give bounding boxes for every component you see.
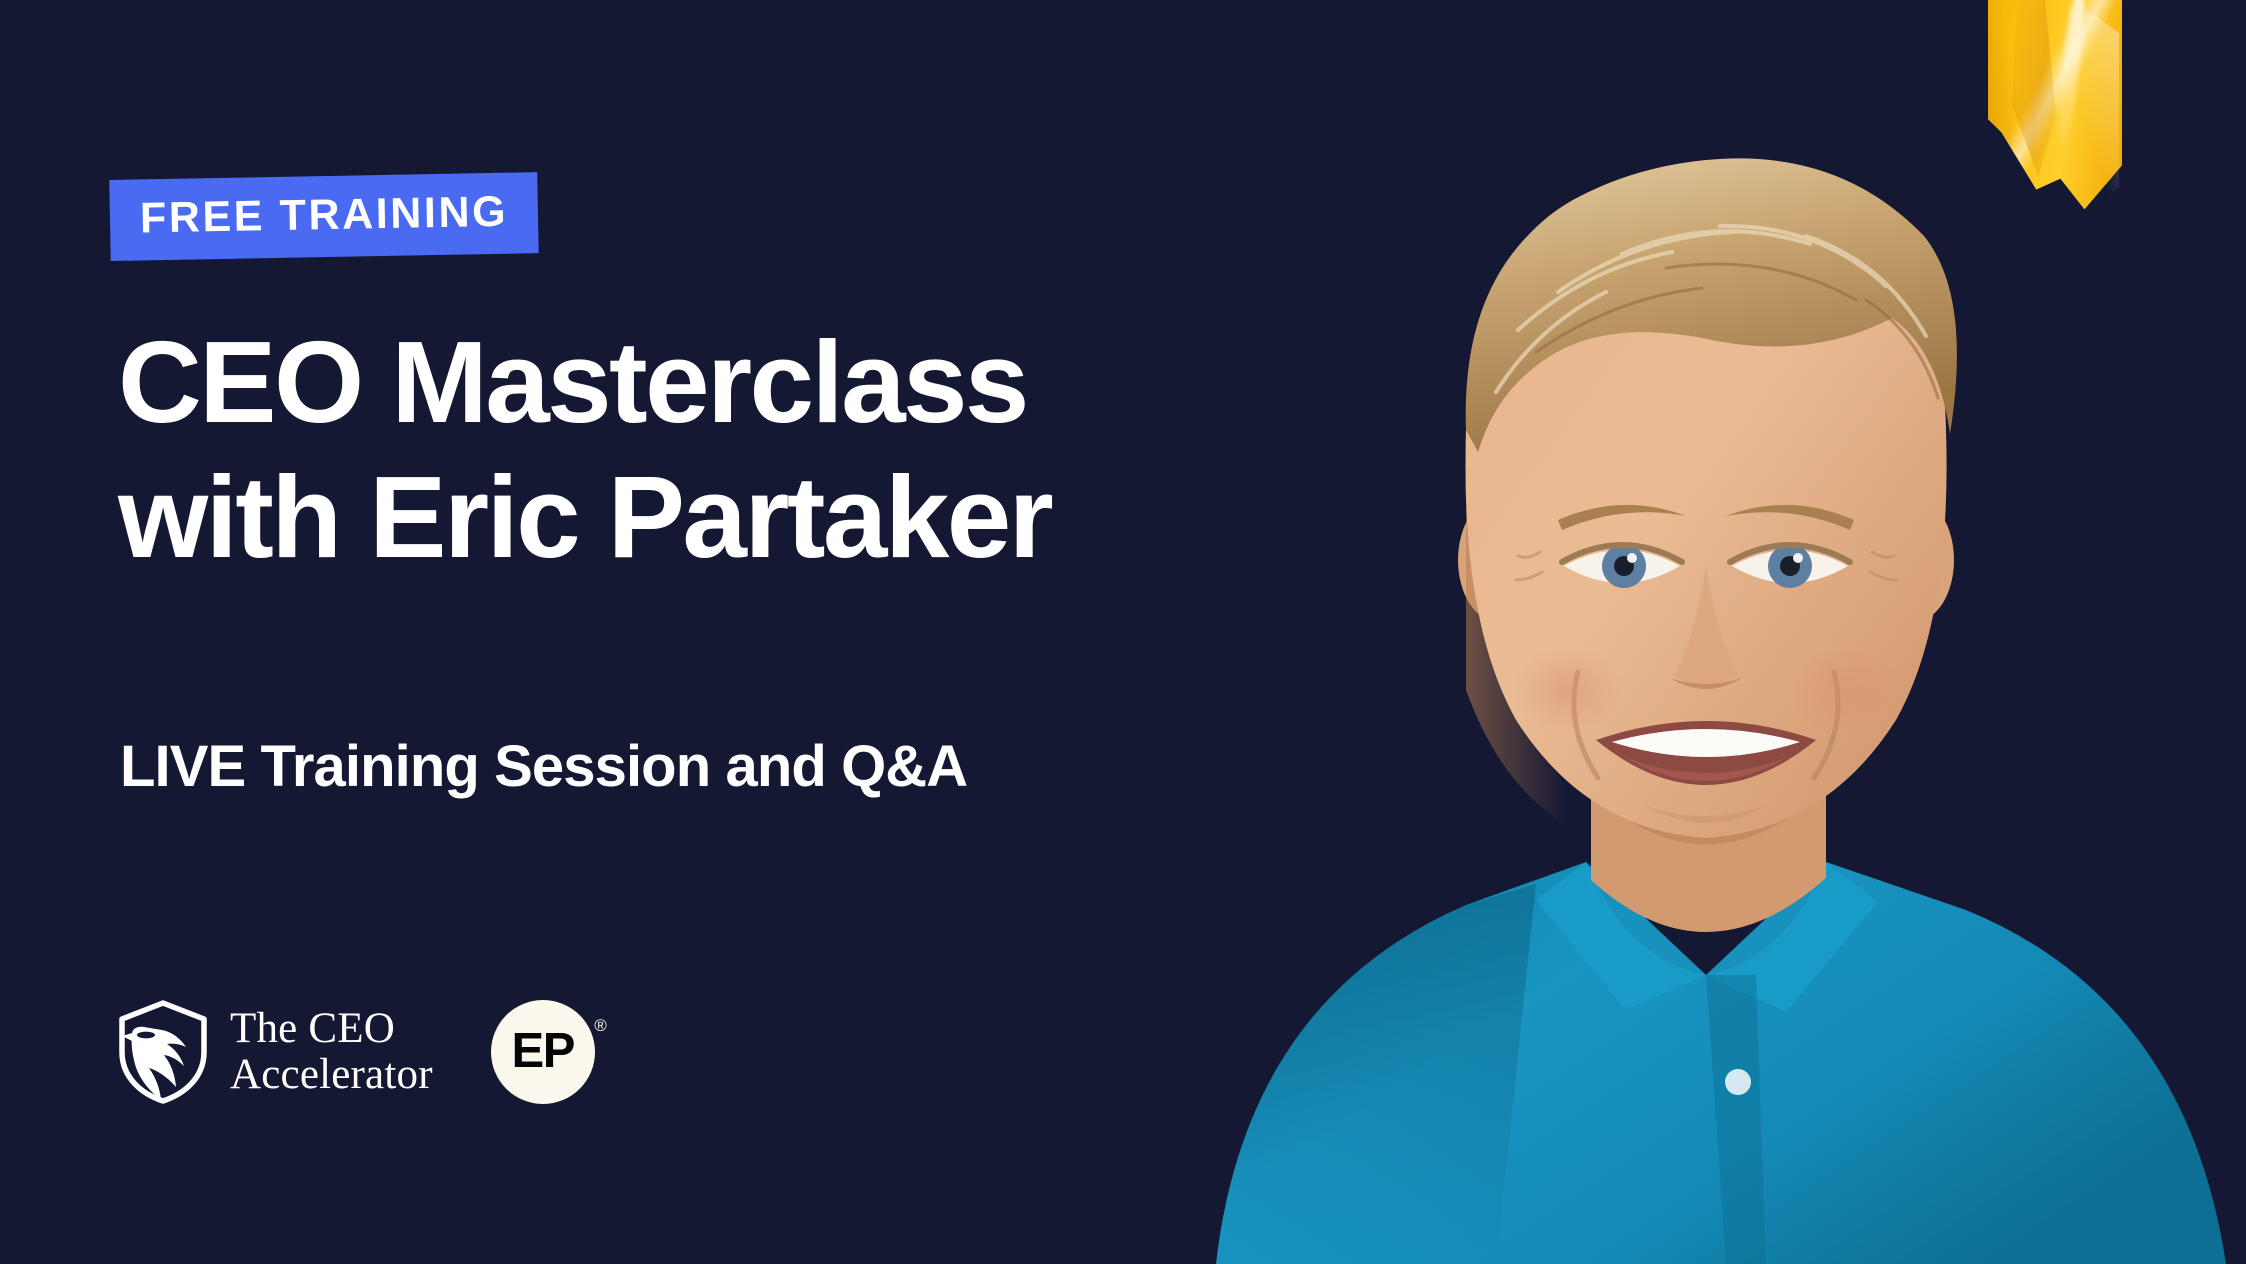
yellow-tape-decoration <box>1988 0 2122 216</box>
promo-banner: FREE TRAINING CEO Masterclass with Eric … <box>0 0 2246 1264</box>
ceo-wordmark-line-1: The CEO <box>230 1006 433 1052</box>
ceo-wordmark-line-2: Accelerator <box>230 1052 433 1098</box>
logo-lockup: The CEO Accelerator EP ® <box>118 1000 595 1104</box>
headline-line-1: CEO Masterclass <box>118 315 1051 450</box>
ceo-accelerator-logo: The CEO Accelerator <box>118 1000 433 1104</box>
ep-initials: EP <box>491 1000 595 1104</box>
ep-logo: EP ® <box>491 1000 595 1104</box>
content-column: FREE TRAINING CEO Masterclass with Eric … <box>110 0 1230 1264</box>
subtitle: LIVE Training Session and Q&A <box>120 735 967 799</box>
headline-line-2: with Eric Partaker <box>118 450 1051 585</box>
registered-trademark-icon: ® <box>594 1017 607 1034</box>
free-training-badge: FREE TRAINING <box>109 172 539 261</box>
eagle-shield-icon <box>118 1000 208 1104</box>
ceo-accelerator-wordmark: The CEO Accelerator <box>230 1006 433 1097</box>
page-title: CEO Masterclass with Eric Partaker <box>118 315 1051 584</box>
